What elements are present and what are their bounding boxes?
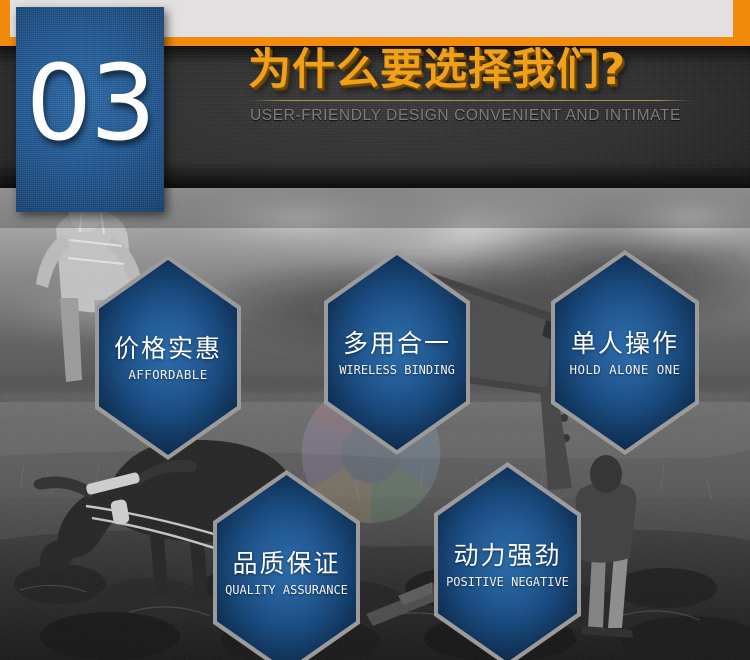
feature-title-cn: 多用合一	[324, 330, 470, 359]
hex-text: 动力强劲 POSITIVE NEGATIVE	[434, 540, 581, 589]
hex-text: 品质保证 QUALITY ASSURANCE	[213, 548, 360, 597]
section-number: 03	[26, 51, 154, 155]
orange-accent-right	[733, 0, 750, 38]
feature-title-cn: 价格实惠	[95, 335, 241, 364]
promo-banner: 03 为什么要选择我们? USER-FRIENDLY DESIGN CONVEN…	[0, 0, 750, 660]
feature-title-cn: 动力强劲	[434, 542, 581, 571]
feature-title-en: WIRELESS BINDING	[324, 363, 470, 377]
hex-text: 价格实惠 AFFORDABLE	[95, 333, 241, 383]
title-divider	[250, 100, 692, 101]
feature-title-en: POSITIVE NEGATIVE	[434, 575, 581, 589]
page-subtitle: USER-FRIENDLY DESIGN CONVENIENT AND INTI…	[248, 107, 718, 125]
feature-title-en: AFFORDABLE	[95, 367, 241, 382]
feature-title-en: QUALITY ASSURANCE	[213, 583, 360, 597]
header-text-block: 为什么要选择我们? USER-FRIENDLY DESIGN CONVENIEN…	[248, 46, 718, 125]
page-title: 为什么要选择我们?	[248, 46, 718, 94]
hex-text: 单人操作 HOLD ALONE ONE	[551, 328, 699, 378]
feature-title-cn: 品质保证	[213, 550, 360, 579]
feature-title-en: HOLD ALONE ONE	[551, 362, 699, 377]
feature-title-cn: 单人操作	[551, 330, 699, 359]
section-number-plate: 03	[16, 7, 164, 212]
hex-text: 多用合一 WIRELESS BINDING	[324, 328, 470, 377]
